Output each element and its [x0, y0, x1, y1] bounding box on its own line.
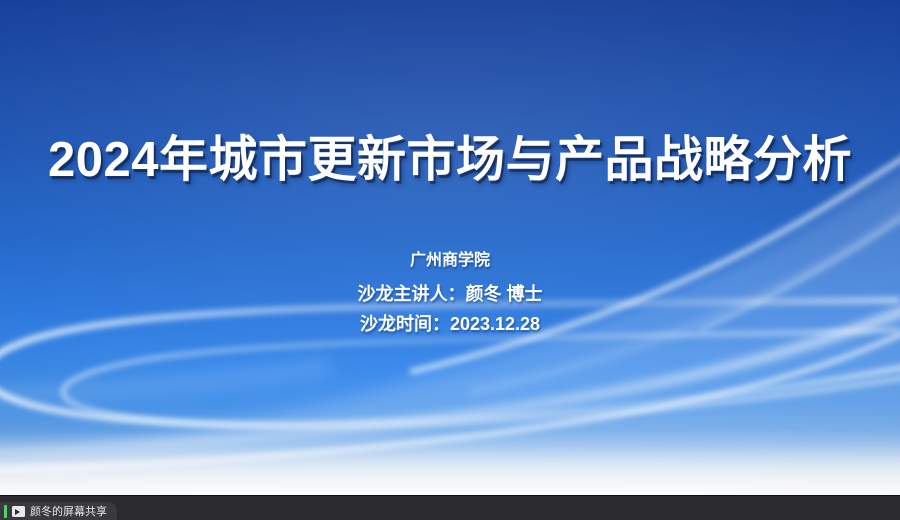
sharing-active-indicator	[4, 505, 7, 518]
organization-label: 广州商学院	[0, 246, 900, 270]
meeting-bottom-bar: 颜冬的屏幕共享	[0, 495, 900, 520]
page-title: 2024年城市更新市场与产品战略分析	[0, 134, 900, 188]
speaker-label: 沙龙主讲人：颜冬 博士	[0, 280, 900, 306]
presentation-slide: 2024年城市更新市场与产品战略分析 广州商学院 沙龙主讲人：颜冬 博士 沙龙时…	[0, 0, 900, 495]
screen-share-icon	[12, 506, 25, 517]
screen-share-viewer: 2024年城市更新市场与产品战略分析 广州商学院 沙龙主讲人：颜冬 博士 沙龙时…	[0, 0, 900, 520]
screen-share-label: 颜冬的屏幕共享	[30, 506, 107, 517]
date-label: 沙龙时间：2023.12.28	[0, 310, 900, 336]
screen-share-status-pill[interactable]: 颜冬的屏幕共享	[0, 502, 117, 520]
